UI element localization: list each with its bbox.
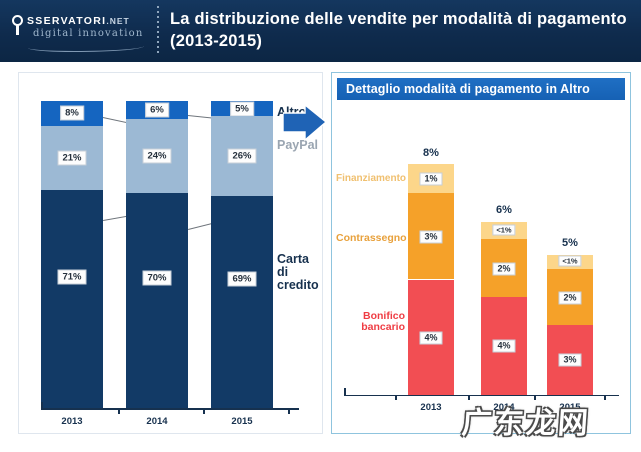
value-label: 21% [57,150,86,165]
segment-paypal-2013[interactable]: 21% [41,126,103,191]
brand-tagline: digital innovation [33,28,144,39]
x-label-2013: 2013 [408,402,454,413]
value-label: 8% [60,106,84,121]
segment-contrassegno-2013[interactable]: 3% [408,193,454,280]
value-label: 1% [419,173,442,186]
value-label: 26% [227,149,256,164]
total-label-2013: 8% [423,147,439,159]
segment-bonifico-2013[interactable]: 4% [408,280,454,396]
key-icon [12,15,25,35]
value-label: <1% [492,225,515,236]
segment-carta-2014[interactable]: 70% [126,193,188,408]
segment-carta-2015[interactable]: 69% [211,196,273,408]
x-tick [118,408,120,414]
legend-label-finanziamento: Finanziamento [336,173,405,184]
brand-name-suffix: .NET [106,16,129,26]
rbar-2013[interactable]: 1% 3% 4% [408,164,454,395]
x-axis [41,408,299,410]
watermark: 广东龙网 [460,398,591,442]
x-axis-cap [41,402,43,410]
segment-paypal-2014[interactable]: 24% [126,119,188,193]
right-chart-plot: 8% 1% 3% 4% 6% <1% [332,73,629,432]
segment-bonifico-2015[interactable]: 3% [547,325,593,395]
value-label: 2% [558,292,581,305]
brand-name: SSERVATORI.NET [27,15,130,27]
x-label-2015: 2015 [211,416,273,427]
x-axis [344,395,619,396]
total-label-2015: 5% [562,237,578,249]
slide-header: SSERVATORI.NET digital innovation La dis… [0,0,641,62]
value-label: 69% [227,272,256,287]
brand-swoosh [28,42,144,52]
x-label-2013: 2013 [41,416,103,427]
segment-paypal-2015[interactable]: 26% [211,116,273,196]
segment-contrassegno-2015[interactable]: 2% [547,269,593,325]
segment-finanziamento-2015[interactable]: <1% [547,255,593,269]
value-label: 71% [57,270,86,285]
bar-2014[interactable]: 6% 24% 70% [126,101,188,408]
right-arrow-icon [283,103,327,143]
legend-label-carta: Carta di credito [277,253,323,292]
segment-altro-2014[interactable]: 6% [126,101,188,119]
x-tick [288,408,290,414]
legend-label-contrassegno: Contrassegno [336,233,405,244]
header-divider [157,6,159,56]
value-label: 5% [230,102,254,117]
rbar-2015[interactable]: <1% 2% 3% [547,255,593,395]
segment-finanziamento-2013[interactable]: 1% [408,164,454,193]
total-label-2014: 6% [496,204,512,216]
value-label: 3% [558,354,581,367]
segment-finanziamento-2014[interactable]: <1% [481,222,527,239]
x-axis-cap [344,388,346,396]
value-label: 6% [145,103,169,118]
x-tick [604,395,606,400]
x-label-2014: 2014 [126,416,188,427]
bar-2013[interactable]: 8% 21% 71% [41,101,103,408]
rbar-2014[interactable]: <1% 2% 4% [481,222,527,395]
brand-logo: SSERVATORI.NET digital innovation [10,10,150,52]
value-label: 4% [419,331,442,344]
segment-altro-2015[interactable]: 5% [211,101,273,116]
segment-bonifico-2014[interactable]: 4% [481,297,527,395]
x-tick [395,395,397,400]
segment-contrassegno-2014[interactable]: 2% [481,239,527,297]
x-tick [203,408,205,414]
value-label: <1% [558,256,581,267]
value-label: 4% [492,340,515,353]
page-title: La distribuzione delle vendite per modal… [170,8,630,52]
legend-label-bonifico: Bonifico bancario [336,311,405,333]
slide-body: 8% 21% 71% 6% 24% [0,62,641,452]
value-label: 2% [492,263,515,276]
segment-altro-2013[interactable]: 8% [41,101,103,126]
value-label: 3% [419,230,442,243]
left-chart-plot: 8% 21% 71% 6% 24% [19,73,324,435]
segment-carta-2013[interactable]: 71% [41,190,103,408]
bar-2015[interactable]: 5% 26% 69% [211,101,273,408]
left-chart-panel: 8% 21% 71% 6% 24% [18,72,323,434]
right-chart-panel: Dettaglio modalità di pagamento in Altro… [331,72,631,434]
value-label: 24% [142,149,171,164]
brand-name-main: SSERVATORI [27,15,106,27]
slide-root: SSERVATORI.NET digital innovation La dis… [0,0,641,452]
value-label: 70% [142,271,171,286]
